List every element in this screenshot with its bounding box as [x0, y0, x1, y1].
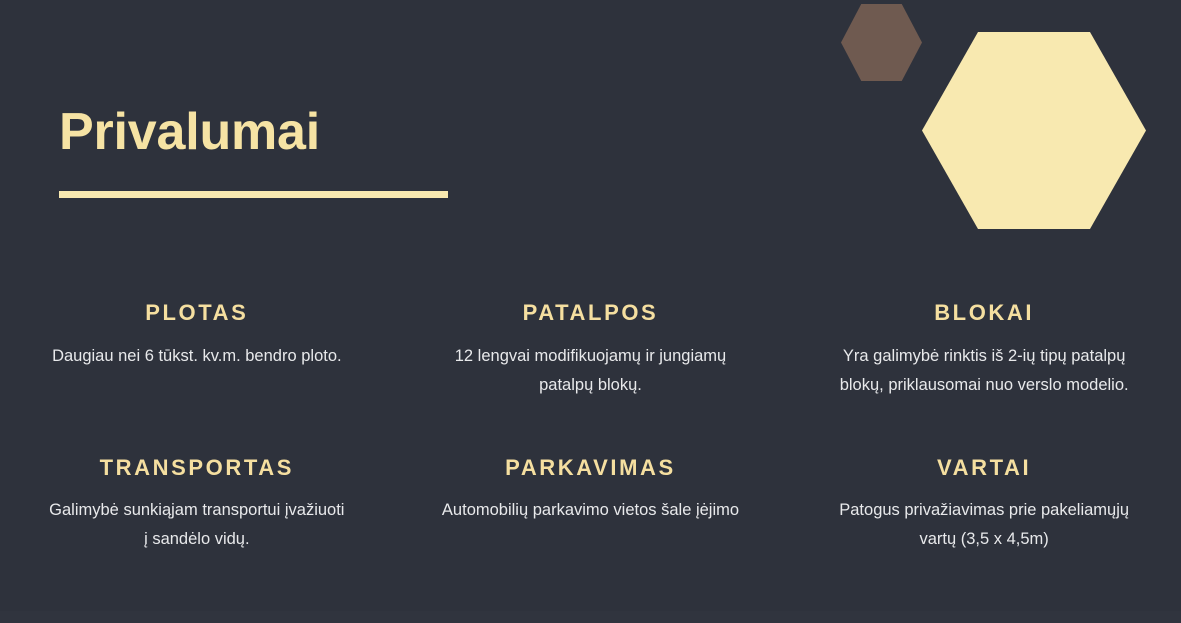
hexagon-small-icon: [841, 4, 922, 81]
feature-grid: PLOTAS Daugiau nei 6 tūkst. kv.m. bendro…: [0, 300, 1181, 610]
feature-item-blokai: BLOKAI Yra galimybė rinktis iš 2-ių tipų…: [787, 300, 1181, 455]
title-underline-rule: [59, 191, 448, 198]
bottom-band: [0, 611, 1181, 623]
page-title: Privalumai: [59, 104, 559, 160]
feature-description: 12 lengvai modifikuojamų ir jungiamų pat…: [440, 342, 742, 400]
feature-item-plotas: PLOTAS Daugiau nei 6 tūkst. kv.m. bendro…: [0, 300, 394, 455]
feature-item-transportas: TRANSPORTAS Galimybė sunkiąjam transport…: [0, 455, 394, 610]
feature-description: Automobilių parkavimo vietos šale įėjimo: [440, 496, 742, 525]
feature-title: PLOTAS: [46, 300, 348, 326]
feature-description: Galimybė sunkiąjam transportui įvažiuoti…: [46, 496, 348, 554]
feature-title: VARTAI: [833, 455, 1135, 481]
slide-canvas: Privalumai PLOTAS Daugiau nei 6 tūkst. k…: [0, 0, 1181, 623]
feature-item-parkavimas: PARKAVIMAS Automobilių parkavimo vietos …: [394, 455, 788, 610]
feature-title: TRANSPORTAS: [46, 455, 348, 481]
decorative-hexagon-group: [821, 0, 1181, 250]
title-block: Privalumai: [59, 104, 559, 198]
feature-description: Patogus privažiavimas prie pakeliamųjų v…: [833, 496, 1135, 554]
feature-item-vartai: VARTAI Patogus privažiavimas prie pakeli…: [787, 455, 1181, 610]
feature-title: BLOKAI: [833, 300, 1135, 326]
feature-title: PATALPOS: [440, 300, 742, 326]
hexagon-large-icon: [922, 32, 1146, 229]
feature-title: PARKAVIMAS: [440, 455, 742, 481]
feature-description: Daugiau nei 6 tūkst. kv.m. bendro ploto.: [46, 342, 348, 371]
feature-item-patalpos: PATALPOS 12 lengvai modifikuojamų ir jun…: [394, 300, 788, 455]
feature-description: Yra galimybė rinktis iš 2-ių tipų patalp…: [833, 342, 1135, 400]
